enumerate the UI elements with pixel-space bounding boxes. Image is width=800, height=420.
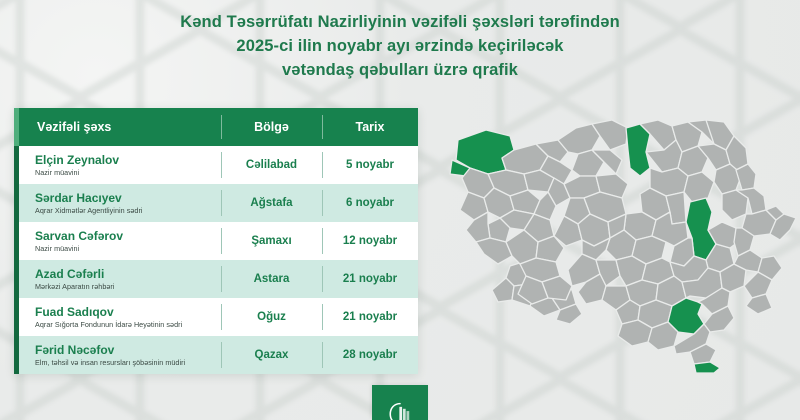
date-value: 28 noyabr — [343, 349, 397, 361]
region-name: Astara — [254, 273, 290, 285]
cell-person: Azad Cəfərli Mərkəzi Aparatın rəhbəri — [19, 260, 221, 298]
region-name: Qazax — [255, 349, 289, 361]
cell-region: Şamaxı — [221, 222, 322, 260]
region-name: Oğuz — [257, 311, 286, 323]
azerbaijan-map — [440, 118, 800, 373]
column-header-date-label: Tarix — [356, 120, 385, 134]
schedule-table: Vəzifəli şəxs Bölgə Tarix Elçin Zeynalov… — [14, 108, 418, 374]
cell-region: Astara — [221, 260, 322, 298]
cell-date: 5 noyabr — [322, 146, 418, 184]
table-row: Sərdar Hacıyev Aqrar Xidmətlər Agentliyi… — [14, 184, 418, 222]
person-name: Elçin Zeynalov — [35, 153, 221, 167]
table-row: Fərid Nəcəfov Elm, təhsil və insan resur… — [14, 336, 418, 374]
person-name: Fuad Sadıqov — [35, 305, 221, 319]
table-row: Azad Cəfərli Mərkəzi Aparatın rəhbəri As… — [14, 260, 418, 298]
person-position: Nazir müavini — [35, 244, 221, 254]
cell-date: 21 noyabr — [322, 298, 418, 336]
person-position: Aqrar Sığorta Fondunun İdarə Heyətinin s… — [35, 320, 221, 330]
map-svg — [440, 118, 800, 373]
date-value: 12 noyabr — [343, 235, 397, 247]
region-name: Cəlilabad — [246, 159, 297, 171]
column-header-person: Vəzifəli şəxs — [19, 108, 221, 146]
person-position: Nazir müavini — [35, 168, 221, 178]
date-value: 5 noyabr — [346, 159, 394, 171]
page-title: Kənd Təsərrüfatı Nazirliyinin vəzifəli ş… — [0, 10, 800, 82]
cell-person: Fuad Sadıqov Aqrar Sığorta Fondunun İdar… — [19, 298, 221, 336]
date-value: 21 noyabr — [343, 311, 397, 323]
cell-person: Fərid Nəcəfov Elm, təhsil və insan resur… — [19, 336, 221, 374]
cell-date: 12 noyabr — [322, 222, 418, 260]
cell-region: Oğuz — [221, 298, 322, 336]
cell-date: 28 noyabr — [322, 336, 418, 374]
person-position: Elm, təhsil və insan resursları şöbəsini… — [35, 358, 221, 368]
column-header-region: Bölgə — [221, 108, 322, 146]
person-name: Fərid Nəcəfov — [35, 343, 221, 357]
table-row: Fuad Sadıqov Aqrar Sığorta Fondunun İdar… — [14, 298, 418, 336]
cell-person: Sərdar Hacıyev Aqrar Xidmətlər Agentliyi… — [19, 184, 221, 222]
date-value: 6 noyabr — [346, 197, 394, 209]
person-position: Mərkəzi Aparatın rəhbəri — [35, 282, 221, 292]
person-name: Azad Cəfərli — [35, 267, 221, 281]
region-name: Şamaxı — [251, 235, 291, 247]
table-header-row: Vəzifəli şəxs Bölgə Tarix — [14, 108, 418, 146]
cell-date: 21 noyabr — [322, 260, 418, 298]
table-row: Sarvan Cəfərov Nazir müavini Şamaxı 12 n… — [14, 222, 418, 260]
cell-region: Ağstafa — [221, 184, 322, 222]
footer-banner — [372, 385, 428, 420]
column-header-region-label: Bölgə — [254, 120, 289, 134]
cell-region: Cəlilabad — [221, 146, 322, 184]
region-name: Ağstafa — [250, 197, 292, 209]
map-region-astara-highlight — [694, 362, 720, 373]
map-region-oguz-highlight — [626, 124, 650, 176]
date-value: 21 noyabr — [343, 273, 397, 285]
title-line-2: 2025-ci ilin noyabr ayı ərzində keçirilə… — [0, 34, 800, 58]
column-header-date: Tarix — [322, 108, 418, 146]
cell-person: Elçin Zeynalov Nazir müavini — [19, 146, 221, 184]
title-line-3: vətəndaş qəbulları üzrə qrafik — [0, 58, 800, 82]
cell-person: Sarvan Cəfərov Nazir müavini — [19, 222, 221, 260]
ministry-emblem-icon — [387, 401, 413, 420]
person-position: Aqrar Xidmətlər Agentliyinin sədri — [35, 206, 221, 216]
table-row: Elçin Zeynalov Nazir müavini Cəlilabad 5… — [14, 146, 418, 184]
column-header-person-label: Vəzifəli şəxs — [37, 120, 111, 134]
person-name: Sərdar Hacıyev — [35, 191, 221, 205]
title-line-1: Kənd Təsərrüfatı Nazirliyinin vəzifəli ş… — [0, 10, 800, 34]
person-name: Sarvan Cəfərov — [35, 229, 221, 243]
cell-date: 6 noyabr — [322, 184, 418, 222]
cell-region: Qazax — [221, 336, 322, 374]
